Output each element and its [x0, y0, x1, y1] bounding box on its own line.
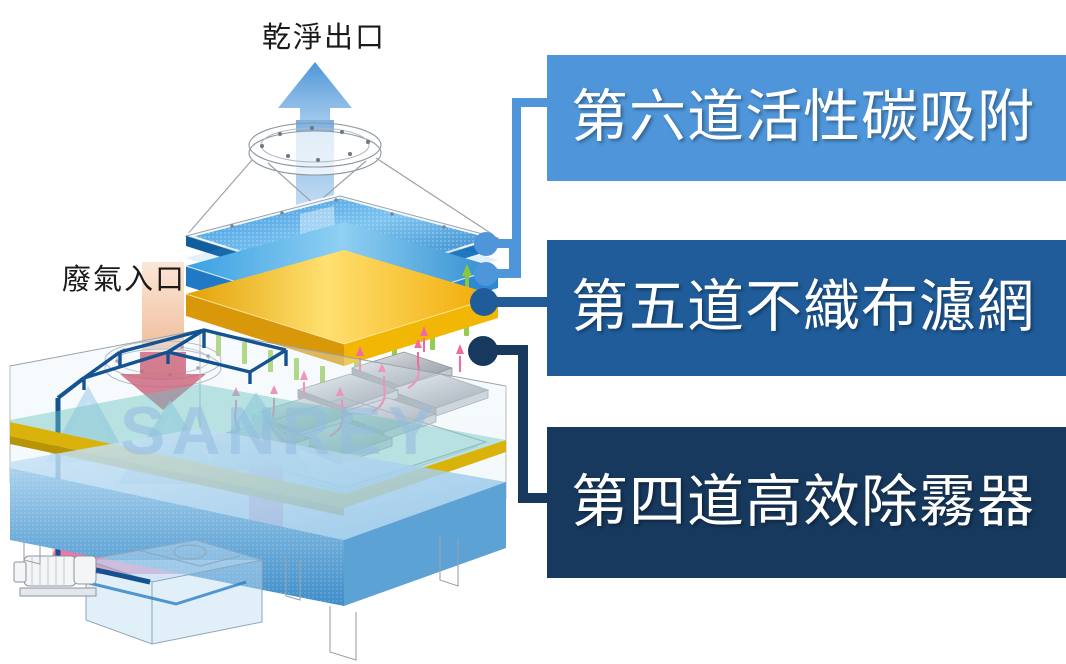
carbon-connector-top — [512, 98, 550, 107]
filter-anchor-dot — [470, 288, 498, 316]
diagram-canvas: SANREY 乾淨出口 廢氣入口 第六道活性碳吸附 第五道不織布濾網 第四道高效… — [0, 0, 1066, 664]
callout-stage5-label: 第五道不織布濾網 — [571, 278, 1035, 338]
scrubber-tower-illustration — [0, 0, 540, 664]
callout-stage4-label: 第四道高效除霧器 — [571, 473, 1035, 533]
filter-connector-horizontal — [489, 297, 549, 307]
carbon-anchor-dot-lower — [474, 262, 498, 286]
callout-stage6-activated-carbon[interactable]: 第六道活性碳吸附 — [547, 55, 1066, 181]
scrubber-tank — [10, 330, 506, 660]
callout-stage5-nonwoven-filter[interactable]: 第五道不織布濾網 — [547, 240, 1066, 376]
demister-anchor-dot — [468, 336, 498, 366]
sump-reservoir — [86, 540, 262, 644]
callout-stage6-label: 第六道活性碳吸附 — [571, 88, 1035, 148]
clean-outlet-label: 乾淨出口 — [262, 14, 386, 56]
circulation-pump — [14, 556, 96, 596]
carbon-anchor-dot-upper — [474, 232, 498, 256]
demister-connector-vertical — [518, 345, 528, 503]
callout-stage4-demister[interactable]: 第四道高效除霧器 — [547, 427, 1066, 578]
waste-gas-inlet-label: 廢氣入口 — [62, 256, 186, 298]
